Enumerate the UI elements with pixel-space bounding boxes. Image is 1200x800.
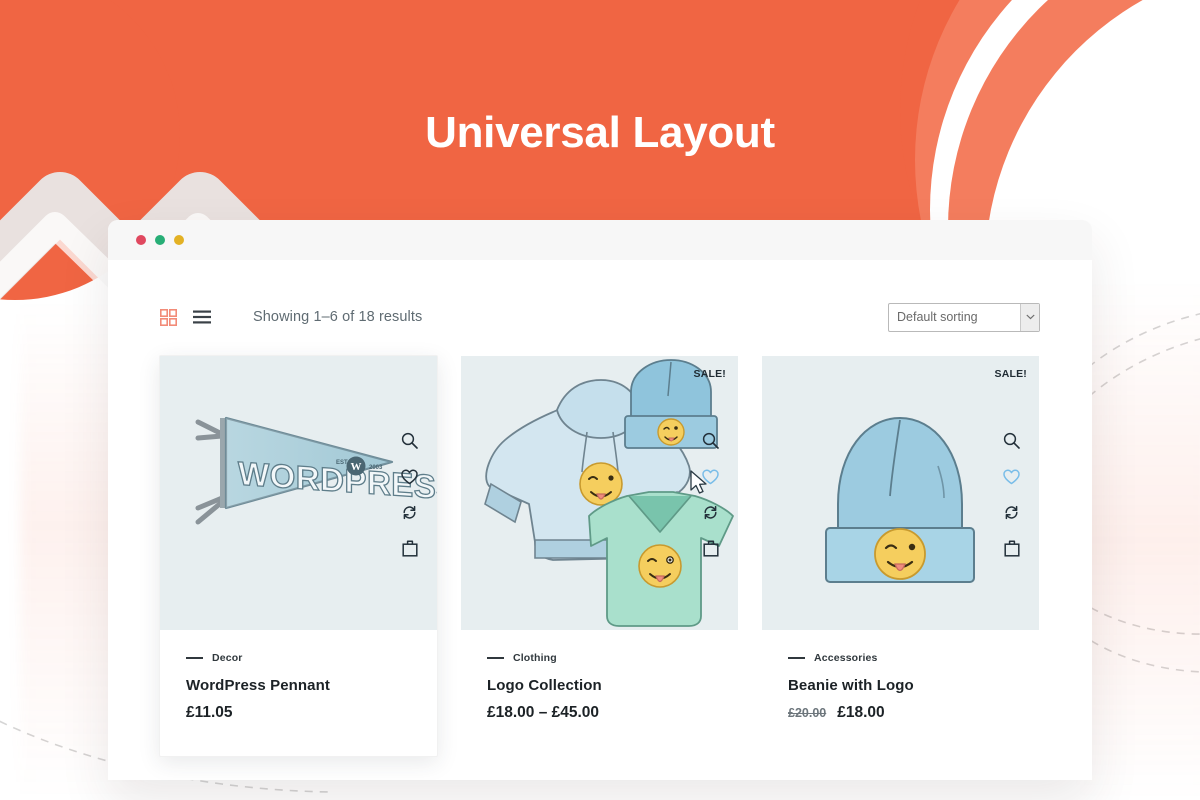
sale-badge: SALE! <box>995 368 1028 380</box>
product-hover-actions <box>701 431 720 558</box>
sale-badge: SALE! <box>694 368 727 380</box>
browser-titlebar <box>108 220 1092 260</box>
product-card[interactable]: SALE! <box>461 356 738 756</box>
sort-control: Default sorting <box>888 303 1040 332</box>
compare-icon[interactable] <box>1002 503 1021 522</box>
product-grid: WORDPRESS W EST. 2003 <box>160 356 1040 756</box>
logo-collection-illustration <box>461 356 738 630</box>
page-title: Universal Layout <box>0 108 1200 158</box>
beanie-illustration <box>762 356 1039 630</box>
price-row: £11.05 <box>186 704 411 722</box>
heart-icon[interactable] <box>701 467 720 486</box>
product-price: £18.00 – £45.00 <box>487 704 599 722</box>
product-info: Accessories Beanie with Logo £20.00 £18.… <box>762 630 1039 756</box>
product-image[interactable]: WORDPRESS W EST. 2003 <box>160 356 437 630</box>
product-category: Decor <box>186 652 411 664</box>
list-view-icon[interactable] <box>193 310 211 324</box>
product-image[interactable]: SALE! <box>461 356 738 630</box>
search-icon[interactable] <box>1002 431 1021 450</box>
product-title[interactable]: Beanie with Logo <box>788 677 1013 694</box>
wordpress-pennant-illustration: WORDPRESS W EST. 2003 <box>160 356 437 630</box>
sort-select[interactable]: Default sorting <box>888 303 1040 332</box>
product-price-original: £20.00 <box>788 706 826 720</box>
view-mode-toggles <box>160 309 211 326</box>
category-dash-icon <box>487 657 504 659</box>
cart-bag-icon[interactable] <box>1002 539 1021 558</box>
product-category: Clothing <box>487 652 712 664</box>
cart-bag-icon[interactable] <box>400 539 419 558</box>
svg-text:W: W <box>351 461 362 473</box>
window-minimize-dot[interactable] <box>155 235 165 245</box>
heart-icon[interactable] <box>1002 467 1021 486</box>
window-close-dot[interactable] <box>136 235 146 245</box>
product-info: Decor WordPress Pennant £11.05 <box>160 630 437 756</box>
price-row: £18.00 – £45.00 <box>487 704 712 722</box>
compare-icon[interactable] <box>701 503 720 522</box>
compare-icon[interactable] <box>400 503 419 522</box>
product-title[interactable]: Logo Collection <box>487 677 712 694</box>
screenshot-root: Universal Layout <box>0 0 1200 800</box>
product-title[interactable]: WordPress Pennant <box>186 677 411 694</box>
product-category: Accessories <box>788 652 1013 664</box>
svg-text:EST.: EST. <box>336 460 349 466</box>
price-row: £20.00 £18.00 <box>788 704 1013 722</box>
search-icon[interactable] <box>701 431 720 450</box>
cart-bag-icon[interactable] <box>701 539 720 558</box>
product-info: Clothing Logo Collection £18.00 – £45.00 <box>461 630 738 756</box>
product-image[interactable]: SALE! <box>762 356 1039 630</box>
product-price: £18.00 <box>837 704 884 722</box>
category-label: Clothing <box>513 652 557 664</box>
category-dash-icon <box>788 657 805 659</box>
svg-text:2003: 2003 <box>369 465 383 471</box>
shop-page: Showing 1–6 of 18 results Default sortin… <box>108 260 1092 780</box>
product-card[interactable]: SALE! <box>762 356 1039 756</box>
search-icon[interactable] <box>400 431 419 450</box>
product-hover-actions <box>400 431 419 558</box>
pink-gradient-right <box>1080 280 1200 800</box>
browser-window: Showing 1–6 of 18 results Default sortin… <box>108 220 1092 780</box>
shop-toolbar: Showing 1–6 of 18 results Default sortin… <box>160 300 1040 334</box>
product-card[interactable]: WORDPRESS W EST. 2003 <box>159 355 438 757</box>
heart-icon[interactable] <box>400 467 419 486</box>
grid-view-icon[interactable] <box>160 309 177 326</box>
window-maximize-dot[interactable] <box>174 235 184 245</box>
category-dash-icon <box>186 657 203 659</box>
category-label: Decor <box>212 652 243 664</box>
product-hover-actions <box>1002 431 1021 558</box>
category-label: Accessories <box>814 652 878 664</box>
product-price: £11.05 <box>186 704 233 722</box>
result-count: Showing 1–6 of 18 results <box>253 309 422 325</box>
